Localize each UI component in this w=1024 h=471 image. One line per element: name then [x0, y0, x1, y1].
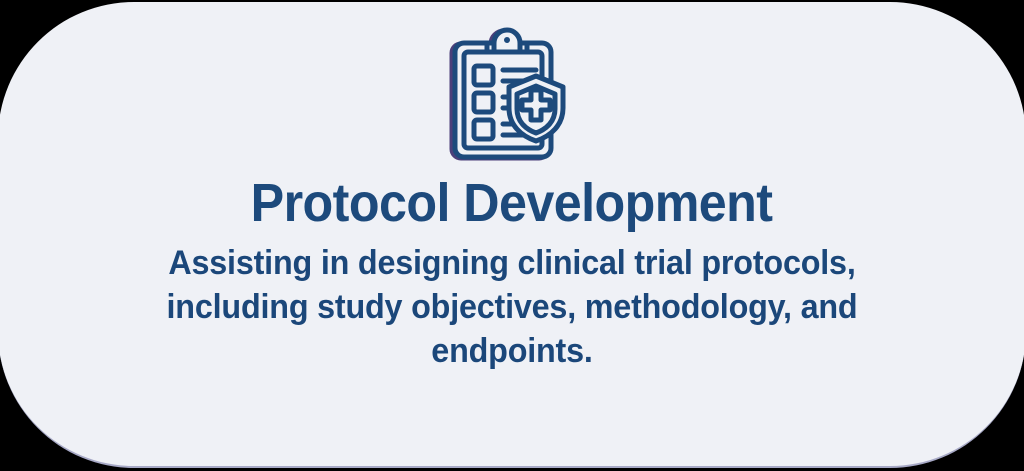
clipboard-medical-shield-icon [447, 30, 577, 162]
feature-card: Protocol Development Assisting in design… [0, 2, 1024, 468]
card-description: Assisting in designing clinical trial pr… [151, 241, 873, 373]
clipboard-medical-shield-icon-main [447, 30, 577, 162]
page-title: Protocol Development [251, 173, 773, 233]
